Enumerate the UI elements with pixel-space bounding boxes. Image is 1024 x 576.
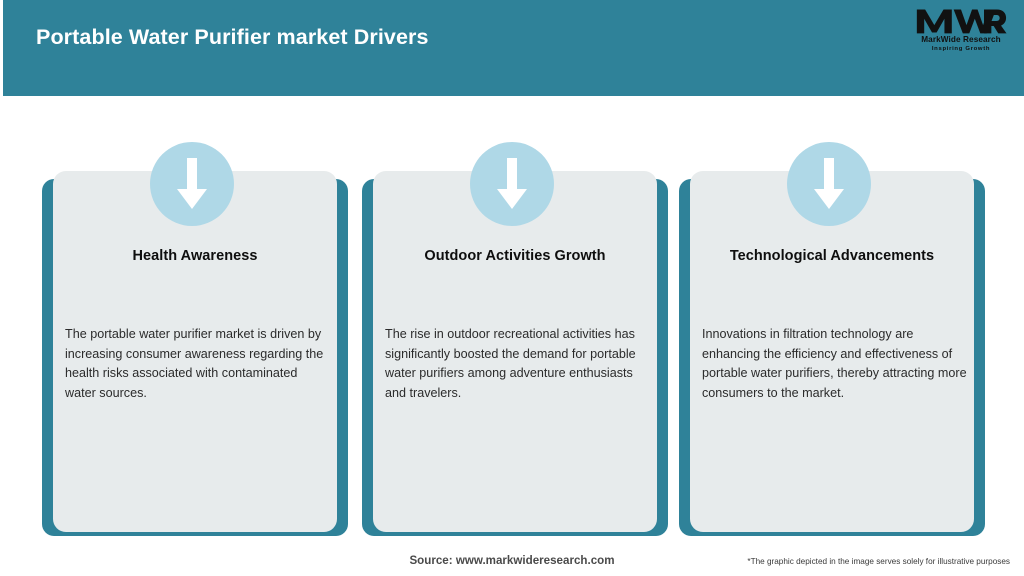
page-header: Portable Water Purifier market Drivers M… — [3, 0, 1024, 96]
mwr-logo-icon — [915, 6, 1007, 36]
driver-card-3[interactable]: Technological Advancements Innovations i… — [679, 96, 985, 536]
down-arrow-icon — [470, 142, 554, 226]
card-title: Health Awareness — [53, 248, 337, 264]
logo-tagline: Inspiring Growth — [912, 45, 1010, 53]
logo-company-name: MarkWide Research — [912, 35, 1010, 45]
brand-logo: MarkWide Research Inspiring Growth — [912, 6, 1010, 58]
down-arrow-icon — [787, 142, 871, 226]
driver-card-2[interactable]: Outdoor Activities Growth The rise in ou… — [362, 96, 668, 536]
card-body-text: The portable water purifier market is dr… — [65, 325, 331, 403]
card-body-text: Innovations in filtration technology are… — [702, 325, 974, 403]
card-title: Outdoor Activities Growth — [373, 248, 657, 264]
page-title: Portable Water Purifier market Drivers — [36, 25, 429, 50]
driver-card-1[interactable]: Health Awareness The portable water puri… — [42, 96, 348, 536]
drivers-card-row: Health Awareness The portable water puri… — [0, 96, 1024, 536]
disclaimer-label: *The graphic depicted in the image serve… — [747, 557, 1010, 566]
card-title: Technological Advancements — [690, 248, 974, 264]
card-body-text: The rise in outdoor recreational activit… — [385, 325, 651, 403]
down-arrow-icon — [150, 142, 234, 226]
